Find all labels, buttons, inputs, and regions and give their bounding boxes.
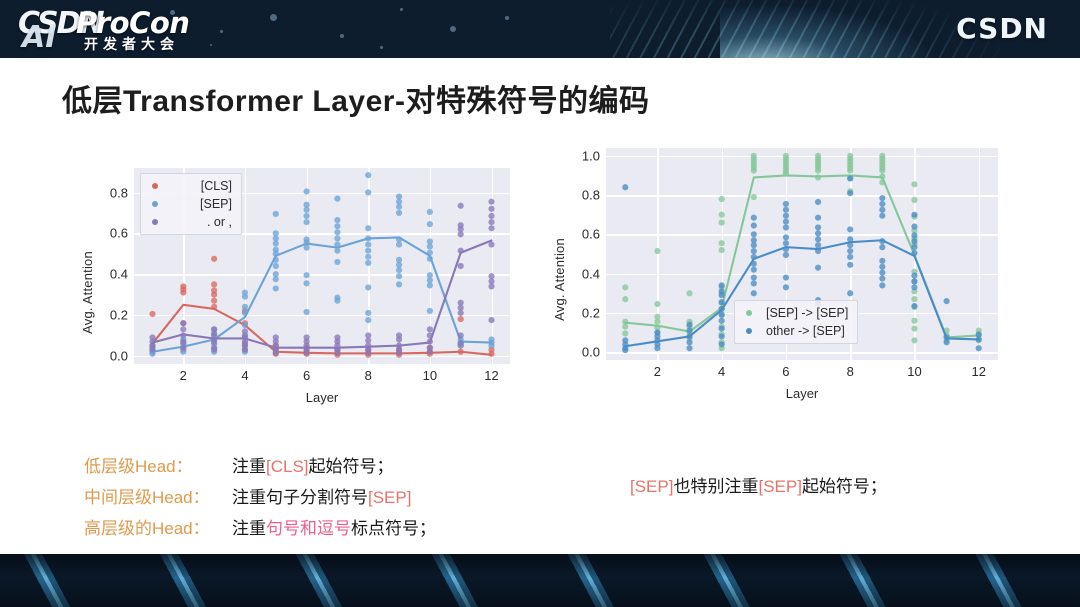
scatter-point bbox=[815, 236, 821, 242]
scatter-point bbox=[365, 317, 371, 323]
scatter-point bbox=[334, 235, 340, 241]
caption-right-mid: 也特别注重 bbox=[673, 477, 758, 496]
logo-ai-text: AI bbox=[22, 20, 56, 55]
scatter-point bbox=[365, 241, 371, 247]
scatter-point bbox=[427, 349, 433, 355]
scatter-point bbox=[686, 345, 692, 351]
slide-root: CSDN AI ProCon 开发者大会 CSDN 低层Transformer … bbox=[0, 0, 1080, 607]
chart-left-ylabel: Avg. Attention bbox=[76, 162, 98, 422]
legend-label: [CLS] bbox=[184, 179, 232, 193]
scatter-point bbox=[783, 201, 789, 207]
scatter-point bbox=[879, 264, 885, 270]
scatter-point bbox=[719, 318, 725, 324]
chart-right-yticks: 0.00.20.40.60.81.0 bbox=[570, 148, 604, 372]
scatter-point bbox=[334, 229, 340, 235]
scatter-point bbox=[911, 284, 917, 290]
bottom-banner-fade bbox=[0, 554, 1080, 607]
banner-bokeh-dots bbox=[150, 0, 550, 58]
scatter-point bbox=[365, 350, 371, 356]
scatter-point bbox=[719, 292, 725, 298]
scatter-point bbox=[783, 240, 789, 246]
scatter-point bbox=[815, 199, 821, 205]
scatter-point bbox=[847, 175, 853, 181]
scatter-point bbox=[815, 224, 821, 230]
scatter-point bbox=[622, 296, 628, 302]
scatter-point bbox=[719, 282, 725, 288]
scatter-point bbox=[911, 272, 917, 278]
scatter-point bbox=[686, 339, 692, 345]
caption-right-post: 起始符号； bbox=[802, 477, 887, 496]
scatter-point bbox=[334, 298, 340, 304]
scatter-point bbox=[654, 248, 660, 254]
chart-left-special-tokens: Avg. Attention 0.00.20.40.60.8 [CLS][SEP… bbox=[76, 162, 516, 422]
scatter-point bbox=[719, 247, 725, 253]
scatter-point bbox=[815, 230, 821, 236]
chart-left-yticks: 0.00.20.40.60.8 bbox=[98, 168, 132, 376]
scatter-point bbox=[242, 328, 248, 334]
scatter-point bbox=[719, 212, 725, 218]
scatter-point bbox=[783, 252, 789, 258]
scatter-point bbox=[751, 167, 757, 173]
caption-right-block: [SEP]也特别注重[SEP]起始符号； bbox=[630, 472, 887, 497]
y-axis-tick-label: 0.0 bbox=[110, 348, 128, 363]
x-axis-tick-label: 12 bbox=[484, 368, 498, 383]
scatter-point bbox=[879, 258, 885, 264]
legend-item: [CLS] bbox=[148, 179, 232, 193]
legend-item: other -> [SEP] bbox=[742, 324, 848, 338]
scatter-point bbox=[303, 207, 309, 213]
caption-body-text: 注重句号和逗号标点符号； bbox=[232, 514, 436, 539]
scatter-point bbox=[847, 190, 853, 196]
scatter-point bbox=[815, 215, 821, 221]
scatter-point bbox=[654, 345, 660, 351]
scatter-point bbox=[686, 322, 692, 328]
scatter-point bbox=[211, 291, 217, 297]
scatter-point bbox=[815, 265, 821, 271]
chart-left-xlabel: Layer bbox=[134, 390, 510, 405]
scatter-point bbox=[488, 219, 494, 225]
scatter-point bbox=[686, 327, 692, 333]
scatter-point bbox=[303, 272, 309, 278]
scatter-point bbox=[365, 260, 371, 266]
scatter-point bbox=[783, 284, 789, 290]
scatter-point bbox=[751, 280, 757, 286]
scatter-point bbox=[180, 326, 186, 332]
scatter-point bbox=[488, 213, 494, 219]
scatter-point bbox=[911, 238, 917, 244]
scatter-point bbox=[396, 241, 402, 247]
scatter-point bbox=[211, 298, 217, 304]
scatter-point bbox=[751, 231, 757, 237]
legend-color-dot bbox=[152, 201, 158, 207]
scatter-point bbox=[783, 219, 789, 225]
scatter-point bbox=[847, 254, 853, 260]
scatter-point bbox=[242, 322, 248, 328]
scatter-point bbox=[911, 223, 917, 229]
chart-left-xticks: 24681012 bbox=[134, 368, 510, 388]
scatter-point bbox=[751, 248, 757, 254]
scatter-point bbox=[879, 270, 885, 276]
caption-left-block: 低层级Head：注重[CLS]起始符号；中间层级Head：注重句子分割符号[SE… bbox=[84, 452, 436, 545]
caption-line: 中间层级Head：注重句子分割符号[SEP] bbox=[84, 483, 436, 508]
scatter-point bbox=[911, 296, 917, 302]
x-axis-tick-label: 4 bbox=[718, 364, 725, 379]
scatter-point bbox=[180, 320, 186, 326]
scatter-point bbox=[334, 350, 340, 356]
scatter-point bbox=[622, 284, 628, 290]
chart-right-legend: [SEP] -> [SEP]other -> [SEP] bbox=[734, 300, 858, 344]
scatter-point bbox=[911, 303, 917, 309]
scatter-point bbox=[879, 207, 885, 213]
y-axis-tick-label: 0.0 bbox=[582, 345, 600, 360]
scatter-point bbox=[273, 263, 279, 269]
scatter-point bbox=[365, 189, 371, 195]
scatter-point bbox=[911, 318, 917, 324]
scatter-point bbox=[242, 304, 248, 310]
chart-right-ylabel-text: Avg. Attention bbox=[552, 238, 567, 321]
y-axis-tick-label: 0.4 bbox=[582, 266, 600, 281]
legend-item: [SEP] bbox=[148, 197, 232, 211]
chart-left-plot-area: [CLS][SEP]. or , bbox=[134, 168, 510, 364]
legend-item: [SEP] -> [SEP] bbox=[742, 306, 848, 320]
x-axis-tick-label: 2 bbox=[654, 364, 661, 379]
y-axis-tick-label: 0.6 bbox=[582, 227, 600, 242]
scatter-point bbox=[303, 350, 309, 356]
scatter-point bbox=[303, 309, 309, 315]
caption-right-mark2: [SEP] bbox=[758, 477, 801, 496]
caption-line: 高层级的Head：注重句号和逗号标点符号； bbox=[84, 514, 436, 539]
y-axis-tick-label: 0.2 bbox=[582, 305, 600, 320]
scatter-point bbox=[911, 212, 917, 218]
x-axis-tick-label: 10 bbox=[907, 364, 921, 379]
scatter-point bbox=[334, 259, 340, 265]
scatter-point bbox=[396, 281, 402, 287]
chart-right-xticks: 24681012 bbox=[606, 364, 998, 384]
scatter-point bbox=[751, 274, 757, 280]
csdn-procon-logo: CSDN AI ProCon 开发者大会 bbox=[14, 4, 199, 54]
scatter-point bbox=[783, 213, 789, 219]
caption-body-suffix: 起始符号； bbox=[309, 457, 394, 476]
trend-line bbox=[152, 237, 491, 351]
scatter-point bbox=[751, 242, 757, 248]
scatter-point bbox=[211, 256, 217, 262]
caption-body-highlight: 句号和逗号 bbox=[266, 519, 351, 538]
scatter-point bbox=[427, 209, 433, 215]
scatter-point bbox=[303, 280, 309, 286]
y-axis-tick-label: 0.8 bbox=[110, 185, 128, 200]
csdn-logo-right: CSDN bbox=[956, 12, 1048, 45]
trend-line bbox=[152, 240, 491, 347]
scatter-point bbox=[365, 284, 371, 290]
chart-right-ylabel: Avg. Attention bbox=[548, 142, 570, 417]
legend-color-dot bbox=[746, 310, 752, 316]
scatter-point bbox=[911, 325, 917, 331]
scatter-point bbox=[180, 338, 186, 344]
scatter-point bbox=[273, 350, 279, 356]
scatter-point bbox=[303, 219, 309, 225]
scatter-point bbox=[815, 167, 821, 173]
caption-body-text: 注重句子分割符号[SEP] bbox=[232, 483, 411, 508]
scatter-point bbox=[783, 224, 789, 230]
legend-label: [SEP] bbox=[184, 197, 232, 211]
scatter-point bbox=[783, 207, 789, 213]
scatter-point bbox=[976, 345, 982, 351]
scatter-point bbox=[815, 242, 821, 248]
scatter-point bbox=[879, 244, 885, 250]
caption-line: 低层级Head：注重[CLS]起始符号； bbox=[84, 452, 436, 477]
scatter-point bbox=[622, 324, 628, 330]
scatter-point bbox=[622, 184, 628, 190]
scatter-point bbox=[751, 215, 757, 221]
scatter-point bbox=[783, 234, 789, 240]
scatter-point bbox=[273, 285, 279, 291]
legend-color-dot bbox=[152, 183, 158, 189]
scatter-point bbox=[654, 301, 660, 307]
scatter-point bbox=[911, 181, 917, 187]
scatter-point bbox=[847, 226, 853, 232]
scatter-point bbox=[303, 213, 309, 219]
scatter-point bbox=[686, 290, 692, 296]
scatter-point bbox=[879, 167, 885, 173]
legend-label: [SEP] -> [SEP] bbox=[766, 306, 848, 320]
scatter-point bbox=[273, 240, 279, 246]
x-axis-tick-label: 2 bbox=[180, 368, 187, 383]
bottom-banner bbox=[0, 554, 1080, 607]
scatter-point bbox=[847, 248, 853, 254]
scatter-point bbox=[943, 339, 949, 345]
scatter-point bbox=[783, 274, 789, 280]
y-axis-tick-label: 0.4 bbox=[110, 267, 128, 282]
scatter-point bbox=[751, 194, 757, 200]
legend-color-dot bbox=[152, 219, 158, 225]
scatter-point bbox=[334, 217, 340, 223]
x-axis-tick-label: 4 bbox=[241, 368, 248, 383]
legend-color-dot bbox=[746, 328, 752, 334]
scatter-point bbox=[719, 240, 725, 246]
x-axis-tick-label: 6 bbox=[303, 368, 310, 383]
scatter-point bbox=[458, 332, 464, 338]
scatter-point bbox=[879, 213, 885, 219]
scatter-point bbox=[365, 310, 371, 316]
scatter-point bbox=[396, 204, 402, 210]
scatter-point bbox=[242, 294, 248, 300]
y-axis-tick-label: 0.8 bbox=[582, 188, 600, 203]
page-title: 低层Transformer Layer-对特殊符号的编码 bbox=[62, 76, 649, 120]
x-axis-tick-label: 8 bbox=[365, 368, 372, 383]
scatter-point bbox=[211, 340, 217, 346]
scatter-point bbox=[719, 341, 725, 347]
scatter-point bbox=[365, 225, 371, 231]
y-axis-tick-label: 0.6 bbox=[110, 226, 128, 241]
scatter-point bbox=[911, 232, 917, 238]
x-axis-tick-label: 6 bbox=[782, 364, 789, 379]
scatter-point bbox=[488, 225, 494, 231]
scatter-point bbox=[458, 310, 464, 316]
x-axis-tick-label: 8 bbox=[847, 364, 854, 379]
scatter-point bbox=[719, 299, 725, 305]
scatter-point bbox=[396, 273, 402, 279]
scatter-point bbox=[211, 330, 217, 336]
scatter-point bbox=[719, 219, 725, 225]
scatter-point bbox=[149, 347, 155, 353]
scatter-point bbox=[427, 221, 433, 227]
scatter-point bbox=[847, 262, 853, 268]
scatter-point bbox=[911, 337, 917, 343]
scatter-point bbox=[273, 211, 279, 217]
scatter-point bbox=[458, 203, 464, 209]
caption-body-prefix: 注重 bbox=[232, 519, 266, 538]
y-axis-tick-label: 1.0 bbox=[582, 148, 600, 163]
scatter-point bbox=[303, 188, 309, 194]
caption-right-mark1: [SEP] bbox=[630, 477, 673, 496]
chart-right-plot-area: [SEP] -> [SEP]other -> [SEP] bbox=[606, 148, 998, 360]
scatter-point bbox=[879, 275, 885, 281]
caption-body-suffix: 标点符号； bbox=[351, 519, 436, 538]
caption-head-label: 中间层级Head： bbox=[84, 483, 232, 508]
scatter-point bbox=[847, 290, 853, 296]
scatter-point bbox=[879, 201, 885, 207]
scatter-point bbox=[149, 311, 155, 317]
caption-head-label: 低层级Head： bbox=[84, 452, 232, 477]
scatter-point bbox=[719, 333, 725, 339]
scatter-point bbox=[427, 326, 433, 332]
scatter-point bbox=[458, 231, 464, 237]
scatter-point bbox=[242, 347, 248, 353]
scatter-point bbox=[911, 244, 917, 250]
scatter-point bbox=[458, 340, 464, 346]
scatter-point bbox=[622, 330, 628, 336]
scatter-point bbox=[180, 345, 186, 351]
scatter-point bbox=[365, 172, 371, 178]
scatter-point bbox=[211, 281, 217, 287]
scatter-point bbox=[879, 282, 885, 288]
scatter-point bbox=[396, 350, 402, 356]
scatter-point bbox=[719, 325, 725, 331]
scatter-point bbox=[654, 319, 660, 325]
caption-head-label: 高层级的Head： bbox=[84, 514, 232, 539]
y-axis-tick-label: 0.2 bbox=[110, 308, 128, 323]
scatter-point bbox=[211, 347, 217, 353]
scatter-point bbox=[458, 316, 464, 322]
scatter-point bbox=[396, 267, 402, 273]
top-banner: CSDN AI ProCon 开发者大会 CSDN bbox=[0, 0, 1080, 58]
caption-body-prefix: 注重 bbox=[232, 457, 266, 476]
legend-item: . or , bbox=[148, 215, 232, 229]
banner-glow bbox=[720, 4, 940, 58]
logo-subtitle-text: 开发者大会 bbox=[84, 34, 179, 54]
chart-right-sep-attention: Avg. Attention 0.00.20.40.60.81.0 [SEP] … bbox=[548, 142, 1018, 417]
scatter-point bbox=[427, 282, 433, 288]
scatter-point bbox=[488, 283, 494, 289]
scatter-point bbox=[180, 289, 186, 295]
scatter-point bbox=[943, 298, 949, 304]
caption-body-text: 注重[CLS]起始符号； bbox=[232, 452, 394, 477]
scatter-point bbox=[427, 308, 433, 314]
legend-label: . or , bbox=[184, 215, 232, 229]
scatter-point bbox=[334, 223, 340, 229]
scatter-point bbox=[396, 210, 402, 216]
x-axis-tick-label: 12 bbox=[971, 364, 985, 379]
scatter-point bbox=[334, 196, 340, 202]
scatter-point bbox=[365, 248, 371, 254]
scatter-point bbox=[847, 167, 853, 173]
x-axis-tick-label: 10 bbox=[423, 368, 437, 383]
caption-body-highlight: [SEP] bbox=[368, 488, 411, 507]
scatter-point bbox=[458, 263, 464, 269]
scatter-point bbox=[273, 276, 279, 282]
scatter-point bbox=[488, 206, 494, 212]
scatter-point bbox=[911, 197, 917, 203]
chart-left-ylabel-text: Avg. Attention bbox=[80, 251, 95, 334]
caption-body-prefix: 注重句子分割符号 bbox=[232, 488, 368, 507]
scatter-point bbox=[488, 199, 494, 205]
scatter-point bbox=[911, 278, 917, 284]
scatter-point bbox=[365, 254, 371, 260]
caption-body-highlight: [CLS] bbox=[266, 457, 309, 476]
scatter-point bbox=[751, 222, 757, 228]
scatter-point bbox=[879, 195, 885, 201]
legend-label: other -> [SEP] bbox=[766, 324, 845, 338]
chart-left-legend: [CLS][SEP]. or , bbox=[140, 173, 242, 235]
chart-right-xlabel: Layer bbox=[606, 386, 998, 401]
scatter-point bbox=[719, 196, 725, 202]
scatter-point bbox=[622, 347, 628, 353]
scatter-point bbox=[396, 336, 402, 342]
scatter-point bbox=[427, 244, 433, 250]
scatter-point bbox=[488, 317, 494, 323]
scatter-point bbox=[751, 290, 757, 296]
scatter-point bbox=[751, 267, 757, 273]
